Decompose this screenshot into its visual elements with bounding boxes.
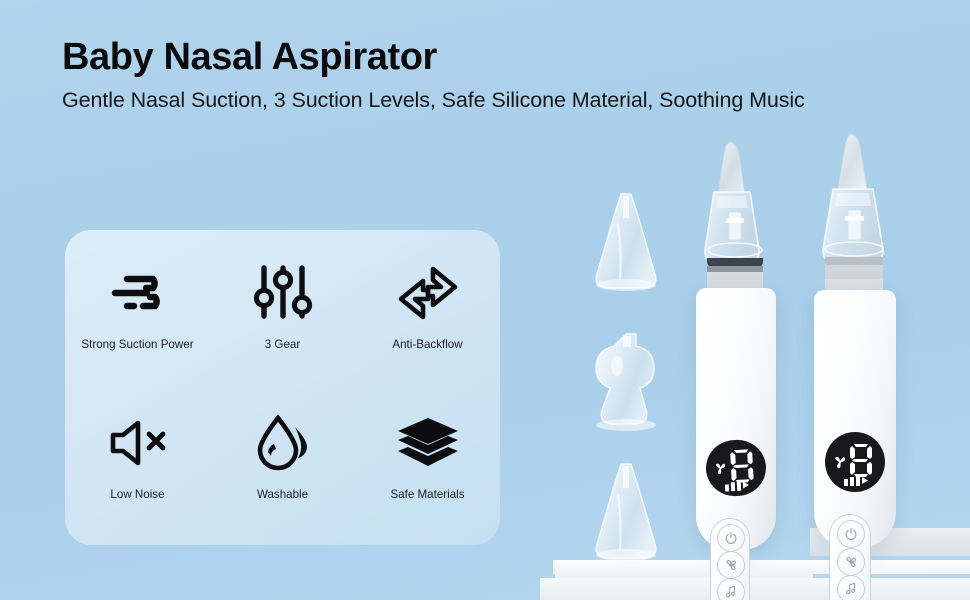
feature-3-gear: 3 Gear <box>210 238 355 396</box>
feature-anti-backflow: Anti-Backflow <box>355 238 500 396</box>
feature-label: 3 Gear <box>265 338 300 351</box>
feature-label: Safe Materials <box>390 488 464 501</box>
speaker-mute-icon <box>105 412 171 474</box>
power-icon <box>724 531 738 545</box>
wind-airflow-icon <box>105 262 171 324</box>
feature-label: Low Noise <box>110 488 164 501</box>
feature-strong-suction-power: Strong Suction Power <box>65 238 210 396</box>
music-button[interactable] <box>717 578 745 600</box>
layers-stack-icon <box>396 412 460 474</box>
feature-row-1: Strong Suction Power 3 Gear <box>65 238 500 396</box>
fan-indicator-icon <box>713 460 729 476</box>
anti-backflow-arrows-icon <box>397 262 459 324</box>
water-drop-icon <box>254 412 312 474</box>
page-title: Baby Nasal Aspirator <box>62 38 942 78</box>
feature-washable: Washable <box>210 388 355 546</box>
page-subtitle: Gentle Nasal Suction, 3 Suction Levels, … <box>62 88 942 113</box>
suction-level-bars <box>725 479 750 491</box>
nasal-aspirator-left[interactable] <box>688 140 784 560</box>
device-left-body <box>696 288 776 550</box>
header: Baby Nasal Aspirator Gentle Nasal Suctio… <box>62 38 942 113</box>
suction-level-bars <box>844 475 868 486</box>
suction-button[interactable] <box>717 551 745 579</box>
device-left-nozzle-chamber <box>688 140 784 305</box>
silicone-nozzle-tip-cone-bottom <box>585 460 667 570</box>
fan-suction-icon <box>724 558 738 572</box>
feature-label: Anti-Backflow <box>392 338 462 351</box>
suction-button[interactable] <box>837 548 865 576</box>
device-right-button-panel <box>829 514 871 600</box>
nasal-aspirator-right[interactable] <box>805 132 905 552</box>
feature-label: Washable <box>257 488 308 501</box>
feature-low-noise: Low Noise <box>65 388 210 546</box>
music-button[interactable] <box>837 575 865 600</box>
silicone-nozzle-tip-bulb-middle <box>585 330 667 440</box>
silicone-nozzle-tip-cone-top <box>585 190 667 300</box>
device-left-button-panel <box>710 518 750 600</box>
sliders-icon <box>253 262 313 324</box>
music-note-icon <box>844 582 858 596</box>
feature-label: Strong Suction Power <box>81 338 193 351</box>
podium-base <box>540 578 970 600</box>
device-right-nozzle-chamber <box>805 132 905 304</box>
power-button[interactable] <box>717 524 745 552</box>
display-digit <box>729 448 755 483</box>
display-digit <box>849 443 873 477</box>
music-note-icon <box>724 585 738 599</box>
feature-panel: Strong Suction Power 3 Gear <box>65 230 500 545</box>
power-button[interactable] <box>837 520 865 548</box>
power-icon <box>844 527 858 541</box>
fan-indicator-icon <box>832 454 848 470</box>
fan-suction-icon <box>844 555 858 569</box>
feature-safe-materials: Safe Materials <box>355 388 500 546</box>
device-right-body <box>814 290 896 548</box>
feature-row-2: Low Noise Washable Safe Materials <box>65 388 500 546</box>
device-right-display <box>825 432 885 492</box>
